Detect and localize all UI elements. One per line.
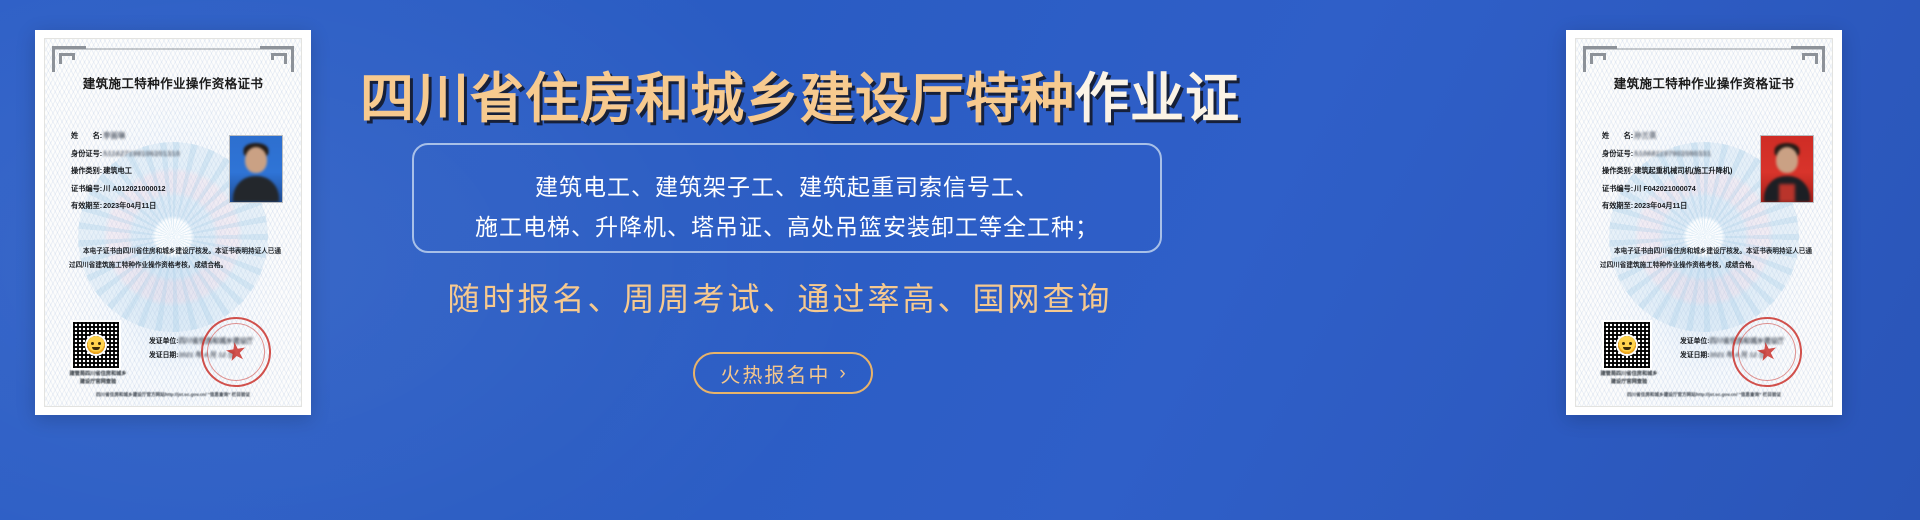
field-label: 身份证号: [1602, 149, 1633, 158]
qr-code-icon [1602, 320, 1652, 370]
avatar [1760, 135, 1814, 203]
field-value-id: 511627198106201310 [102, 149, 180, 158]
specialty-line-2: 施工电梯、升降机、塔吊证、高处吊篮安装卸工等全工种； [414, 208, 1160, 242]
slogan-text: 随时报名、周周考试、通过率高、国网查询 [360, 274, 1200, 320]
field-value-category: 建筑起重机械司机(施工升降机) [1633, 166, 1732, 175]
certificate-top-rule [52, 48, 294, 50]
chevron-right-icon: › [839, 364, 845, 383]
avatar [229, 135, 283, 203]
field-value-id: 510681197902080331 [1633, 149, 1711, 158]
certificate-paragraph-text: 本电子证书由四川省住房和城乡建设厅核发。本证书表明持证人已通过四川省建筑施工特种… [69, 248, 281, 269]
field-label: 身份证号: [71, 149, 102, 158]
specialty-list-box: 建筑电工、建筑架子工、建筑起重司索信号工、 施工电梯、升降机、塔吊证、高处吊篮安… [412, 143, 1162, 253]
certificate-inner-left: 建筑施工特种作业操作资格证书 姓 名:李丽琳 身份证号:511627198106… [44, 38, 302, 407]
field-value-expiry: 2023年04月11日 [102, 201, 156, 210]
corner-ornament-icon [1583, 46, 1617, 72]
issuer-label: 发证单位: [149, 338, 178, 345]
field-value-name: 李丽琳 [102, 131, 125, 140]
certificate-card-right: 建筑施工特种作业操作资格证书 姓 名:孙兰英 身份证号:510681197902… [1566, 30, 1842, 415]
corner-ornament-icon [52, 46, 86, 72]
certificate-card-left: 建筑施工特种作业操作资格证书 姓 名:李丽琳 身份证号:511627198106… [35, 30, 311, 415]
certificate-title: 建筑施工特种作业操作资格证书 [45, 73, 301, 92]
field-value-number: 川 F042021000074 [1633, 184, 1696, 193]
issue-date-label: 发证日期: [1680, 352, 1709, 359]
certificate-footnote: 四川省住房和城乡建设厅官方网站http://jst.sc.gov.cn/ "信息… [1590, 392, 1818, 398]
issue-date-label: 发证日期: [149, 352, 178, 359]
certificate-top-rule [1583, 48, 1825, 50]
field-label: 姓 名: [71, 131, 102, 140]
headline-part-1: 四川省住房和城乡建设厅特种 [360, 67, 1075, 130]
certificate-inner-right: 建筑施工特种作业操作资格证书 姓 名:孙兰英 身份证号:510681197902… [1575, 38, 1833, 407]
page-title: 四川省住房和城乡建设厅特种作业证 [360, 72, 1200, 126]
qr-code-icon [71, 320, 121, 370]
banner-content: 四川省住房和城乡建设厅特种作业证 建筑电工、建筑架子工、建筑起重司索信号工、 施… [360, 0, 1560, 520]
field-label: 有效期至: [71, 201, 102, 210]
certificate-paragraph: 本电子证书由四川省住房和城乡建设厅核发。本证书表明持证人已通过四川省建筑施工特种… [69, 245, 281, 272]
field-label: 操作类别: [71, 166, 102, 175]
headline-part-2: 作业证 [1075, 67, 1240, 130]
field-value-name: 孙兰英 [1633, 131, 1656, 140]
qr-caption: 建管局四川省住房和城乡建设厅官网查验 [67, 370, 129, 386]
field-value-category: 建筑电工 [102, 166, 132, 175]
certificate-title: 建筑施工特种作业操作资格证书 [1576, 73, 1832, 92]
qr-caption: 建管局四川省住房和城乡建设厅官网查验 [1598, 370, 1660, 386]
enroll-now-label: 火热报名中 [720, 359, 830, 388]
certificate-footnote: 四川省住房和城乡建设厅官方网站http://jst.sc.gov.cn/ "信息… [59, 392, 287, 398]
enroll-now-button[interactable]: 火热报名中 › [693, 352, 873, 394]
field-value-number: 川 A012021000012 [102, 184, 165, 193]
certificate-paragraph: 本电子证书由四川省住房和城乡建设厅核发。本证书表明持证人已通过四川省建筑施工特种… [1600, 245, 1812, 272]
official-seal-icon [1727, 312, 1807, 392]
issuer-label: 发证单位: [1680, 338, 1709, 345]
certificate-paragraph-text: 本电子证书由四川省住房和城乡建设厅核发。本证书表明持证人已通过四川省建筑施工特种… [1600, 248, 1812, 269]
field-label: 证书编号: [1602, 184, 1633, 193]
corner-ornament-icon [1791, 46, 1825, 72]
field-label: 证书编号: [71, 184, 102, 193]
field-label: 有效期至: [1602, 201, 1633, 210]
official-seal-icon [196, 312, 276, 392]
corner-ornament-icon [260, 46, 294, 72]
field-label: 姓 名: [1602, 131, 1633, 140]
promo-banner: 建筑施工特种作业操作资格证书 姓 名:李丽琳 身份证号:511627198106… [0, 0, 1920, 520]
field-label: 操作类别: [1602, 166, 1633, 175]
specialty-line-1: 建筑电工、建筑架子工、建筑起重司索信号工、 [414, 168, 1160, 202]
field-value-expiry: 2023年04月11日 [1633, 201, 1687, 210]
